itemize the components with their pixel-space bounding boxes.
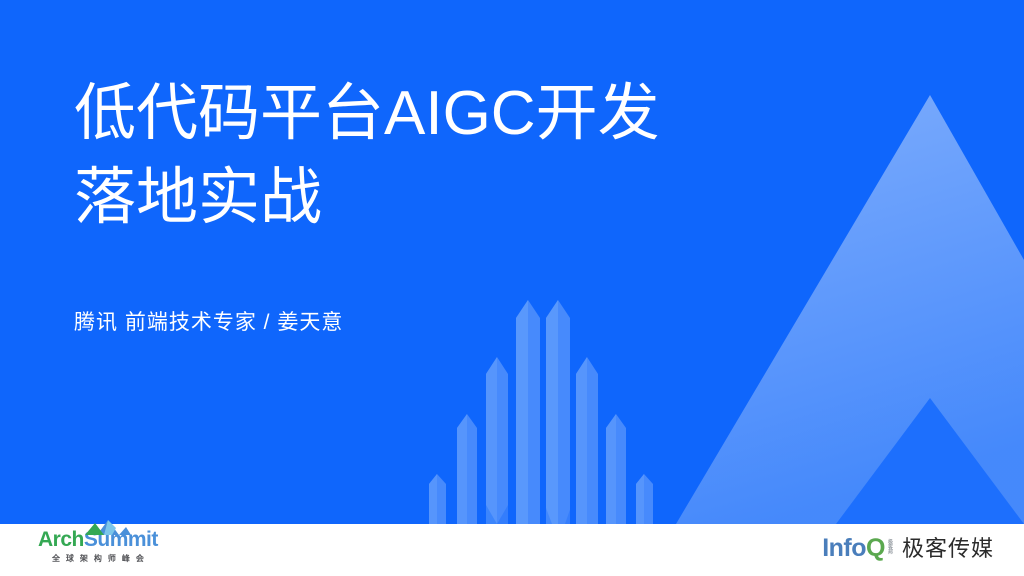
- archsummit-arch-text: Arch: [38, 529, 84, 550]
- archsummit-wordmark: Arch Summit: [38, 529, 158, 550]
- archsummit-logo: Arch Summit 全球架构师峰会: [38, 529, 158, 564]
- page-title: 低代码平台AIGC开发 落地实战: [74, 72, 874, 239]
- infoq-chinese-text: 极客传媒: [902, 538, 994, 560]
- infoq-logo: Info Q 极客邦 极客传媒: [822, 536, 994, 561]
- infoq-info-text: Info: [822, 536, 866, 561]
- infoq-trademark-text: 极客邦: [887, 539, 892, 554]
- mountain-icon: [85, 518, 131, 539]
- title-block: 低代码平台AIGC开发 落地实战: [74, 72, 874, 239]
- infoq-q-text: Q: [866, 536, 885, 561]
- infoq-wordmark: Info Q 极客邦: [822, 536, 892, 561]
- footer-bar: Arch Summit 全球架构师峰会 Info Q 极客邦 极: [0, 524, 1024, 576]
- archsummit-tagline: 全球架构师峰会: [46, 553, 150, 564]
- presentation-slide: 低代码平台AIGC开发 落地实战 腾讯 前端技术专家 / 姜天意 Arch Su…: [0, 0, 1024, 576]
- speaker-subtitle: 腾讯 前端技术专家 / 姜天意: [74, 306, 343, 336]
